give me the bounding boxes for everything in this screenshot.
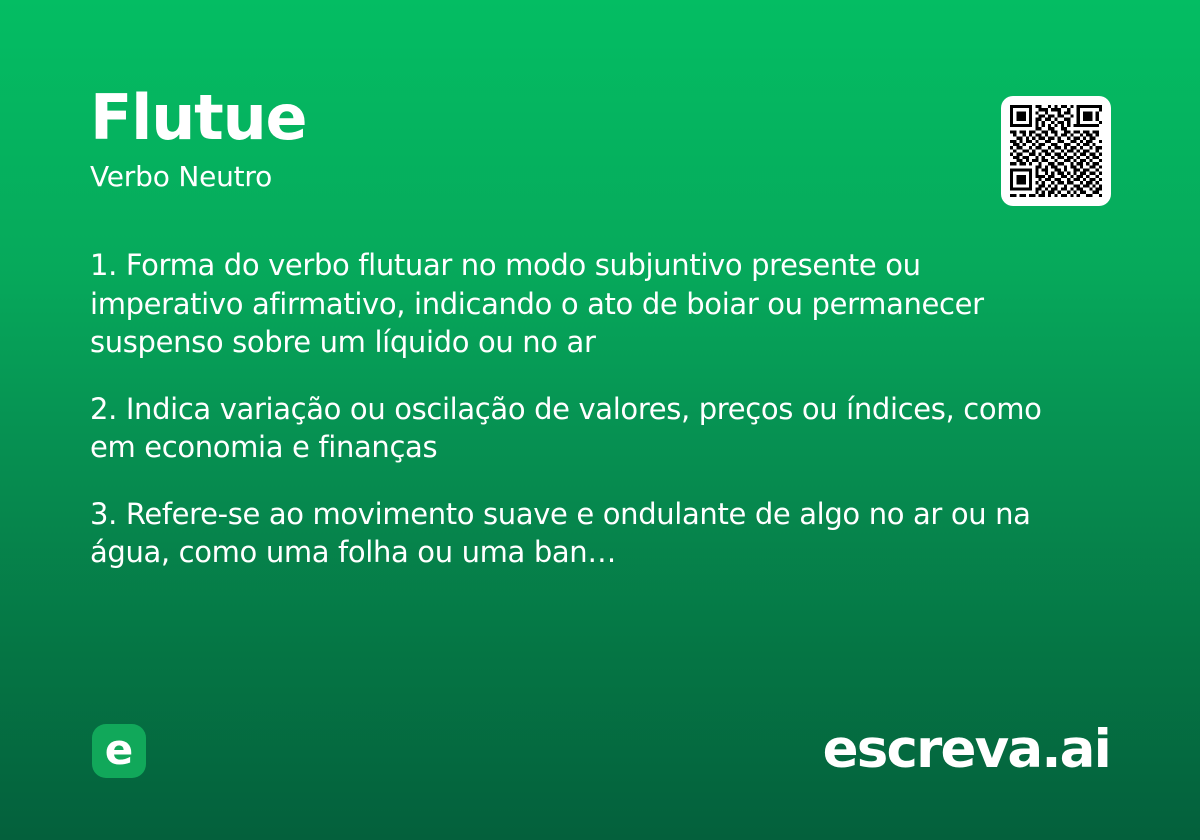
dictionary-card: Flutue Verbo Neutro 1. Forma do verbo fl… xyxy=(0,0,1200,840)
brand-logo-letter: e xyxy=(92,724,146,778)
brand-logo-mark: e xyxy=(92,724,146,778)
brand-wordmark: escreva.ai xyxy=(823,719,1110,781)
card-header: Flutue Verbo Neutro xyxy=(90,84,990,194)
definition-list: 1. Forma do verbo flutuar no modo subjun… xyxy=(90,246,1082,572)
definition-item: 3. Refere-se ao movimento suave e ondula… xyxy=(90,495,1082,572)
definition-item: 1. Forma do verbo flutuar no modo subjun… xyxy=(90,246,1082,362)
qr-code-icon xyxy=(1010,105,1102,197)
word-class-label: Verbo Neutro xyxy=(90,160,990,194)
page-title: Flutue xyxy=(90,84,990,152)
definition-item: 2. Indica variação ou oscilação de valor… xyxy=(90,390,1082,467)
qr-code-container[interactable] xyxy=(1001,96,1111,206)
